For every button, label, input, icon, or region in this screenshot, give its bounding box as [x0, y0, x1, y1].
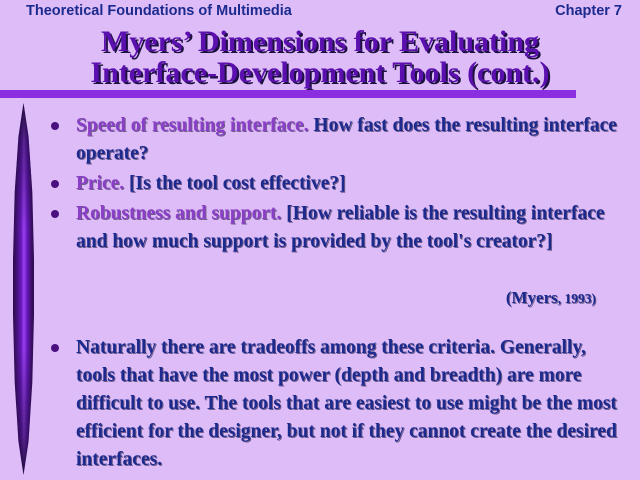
list-item: Robustness and support. [How reliable is…: [0, 200, 640, 256]
bullet-dot-icon: [51, 180, 59, 188]
bullet-text: Price. [Is the tool cost effective?]: [76, 173, 346, 194]
bullet-text: Robustness and support. [How reliable is…: [76, 203, 605, 252]
citation-author: (Myers: [506, 288, 558, 307]
citation: (Myers, 1993): [0, 288, 640, 308]
bullet-dot-icon: [51, 122, 59, 130]
title-divider-bar: [0, 90, 576, 98]
citation-year: , 1993): [558, 291, 596, 306]
course-title: Theoretical Foundations of Multimedia: [26, 3, 292, 19]
slide-header: Theoretical Foundations of Multimedia Ch…: [0, 3, 640, 23]
list-item: Speed of resulting interface. How fast d…: [0, 112, 640, 168]
bullet-text: Naturally there are tradeoffs among thes…: [76, 337, 617, 470]
bullet-body: [Is the tool cost effective?]: [124, 173, 345, 194]
bullet-dot-icon: [51, 210, 59, 218]
title-line-1: Myers’ Dimensions for Evaluating: [0, 26, 640, 57]
page-title: Myers’ Dimensions for Evaluating Interfa…: [0, 26, 640, 88]
slide-body: Speed of resulting interface. How fast d…: [0, 112, 640, 258]
bullet-lead-in: Price.: [76, 173, 124, 194]
title-line-2: Interface-Development Tools (cont.): [0, 57, 640, 88]
bullet-text: Speed of resulting interface. How fast d…: [76, 115, 617, 164]
slide: Theoretical Foundations of Multimedia Ch…: [0, 0, 640, 480]
bullet-dot-icon: [51, 344, 59, 352]
list-item: Naturally there are tradeoffs among thes…: [0, 334, 640, 474]
bullet-lead-in: Robustness and support.: [76, 203, 281, 224]
list-item: Price. [Is the tool cost effective?]: [0, 170, 640, 198]
closing-paragraph-block: Naturally there are tradeoffs among thes…: [0, 334, 640, 476]
bullet-lead-in: Speed of resulting interface.: [76, 115, 309, 136]
chapter-label: Chapter 7: [555, 3, 622, 19]
